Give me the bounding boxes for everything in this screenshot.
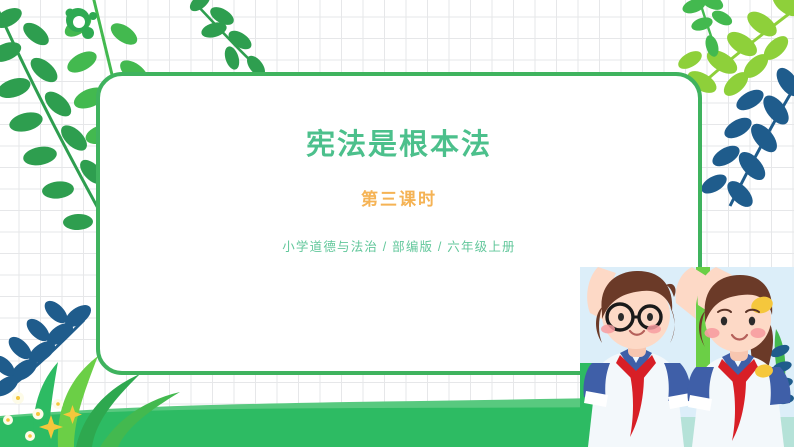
lesson-subtitle: 第三课时 (361, 185, 437, 210)
page-title: 宪法是根本法 (306, 128, 492, 163)
course-meta: 小学道德与法治 / 部编版 / 六年级上册 (282, 236, 516, 255)
two-students-raising-hands (580, 267, 794, 447)
presentation-slide: 宪法是根本法 第三课时 小学道德与法治 / 部编版 / 六年级上册 (0, 0, 794, 447)
